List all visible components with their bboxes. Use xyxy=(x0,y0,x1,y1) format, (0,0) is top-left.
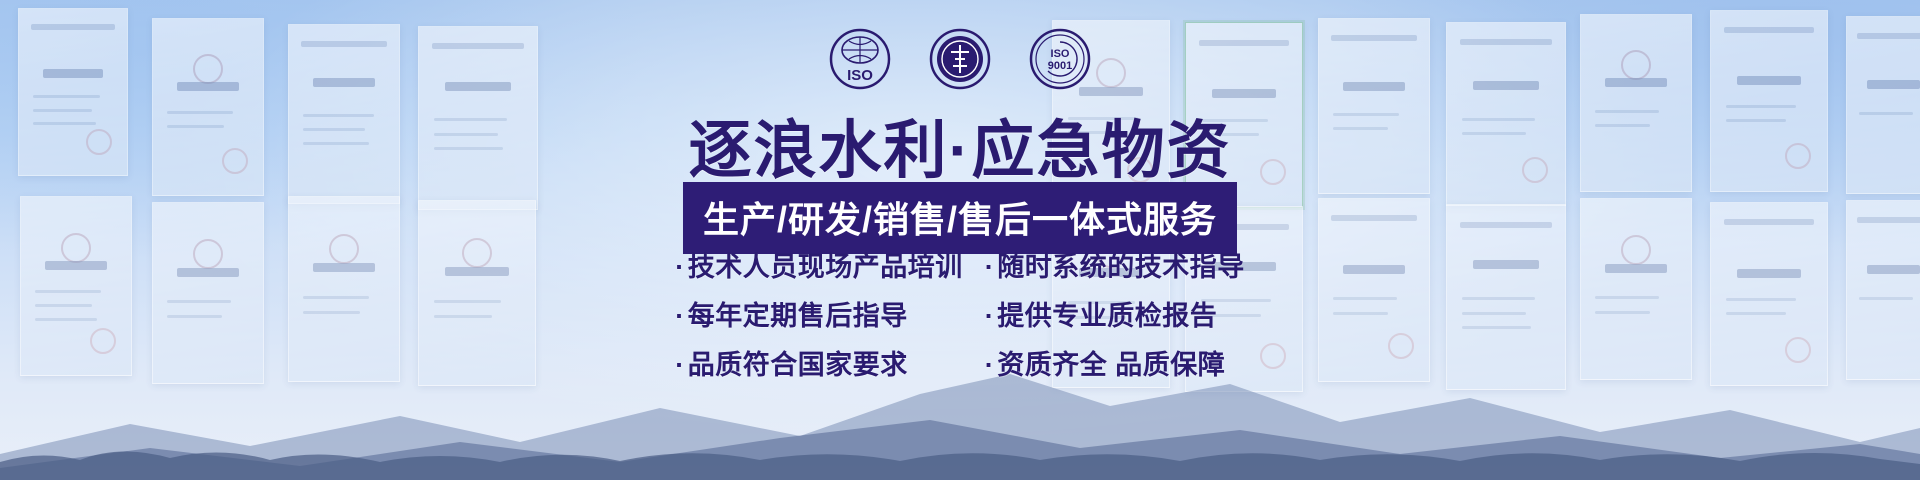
bullet-dot-icon: · xyxy=(675,301,685,331)
promo-banner: ISO ISO 9001 逐浪水利·应急物资 生产/研发/销售/售后 xyxy=(0,0,1920,480)
bullet-dot-icon: · xyxy=(985,252,995,282)
svg-text:9001: 9001 xyxy=(1048,60,1072,72)
iso-badge: ISO xyxy=(829,28,891,90)
certificate-thumb xyxy=(20,196,132,376)
iso-9001-badge: ISO 9001 xyxy=(1029,28,1091,90)
treeline-silhouette xyxy=(0,428,1920,480)
feature-item: ·技术人员现场产品培训 xyxy=(675,245,963,284)
bullet-dot-icon: · xyxy=(675,252,685,282)
feature-item: ·每年定期售后指导 xyxy=(675,294,963,333)
iso-badge-label: ISO xyxy=(847,67,873,84)
feature-label: 技术人员现场产品培训 xyxy=(688,252,963,282)
bullet-dot-icon: · xyxy=(985,301,995,331)
quality-seal-badge xyxy=(929,28,991,90)
certification-badges: ISO ISO 9001 xyxy=(0,28,1920,90)
svg-text:ISO: ISO xyxy=(1051,48,1070,60)
feature-label: 每年定期售后指导 xyxy=(688,301,908,331)
